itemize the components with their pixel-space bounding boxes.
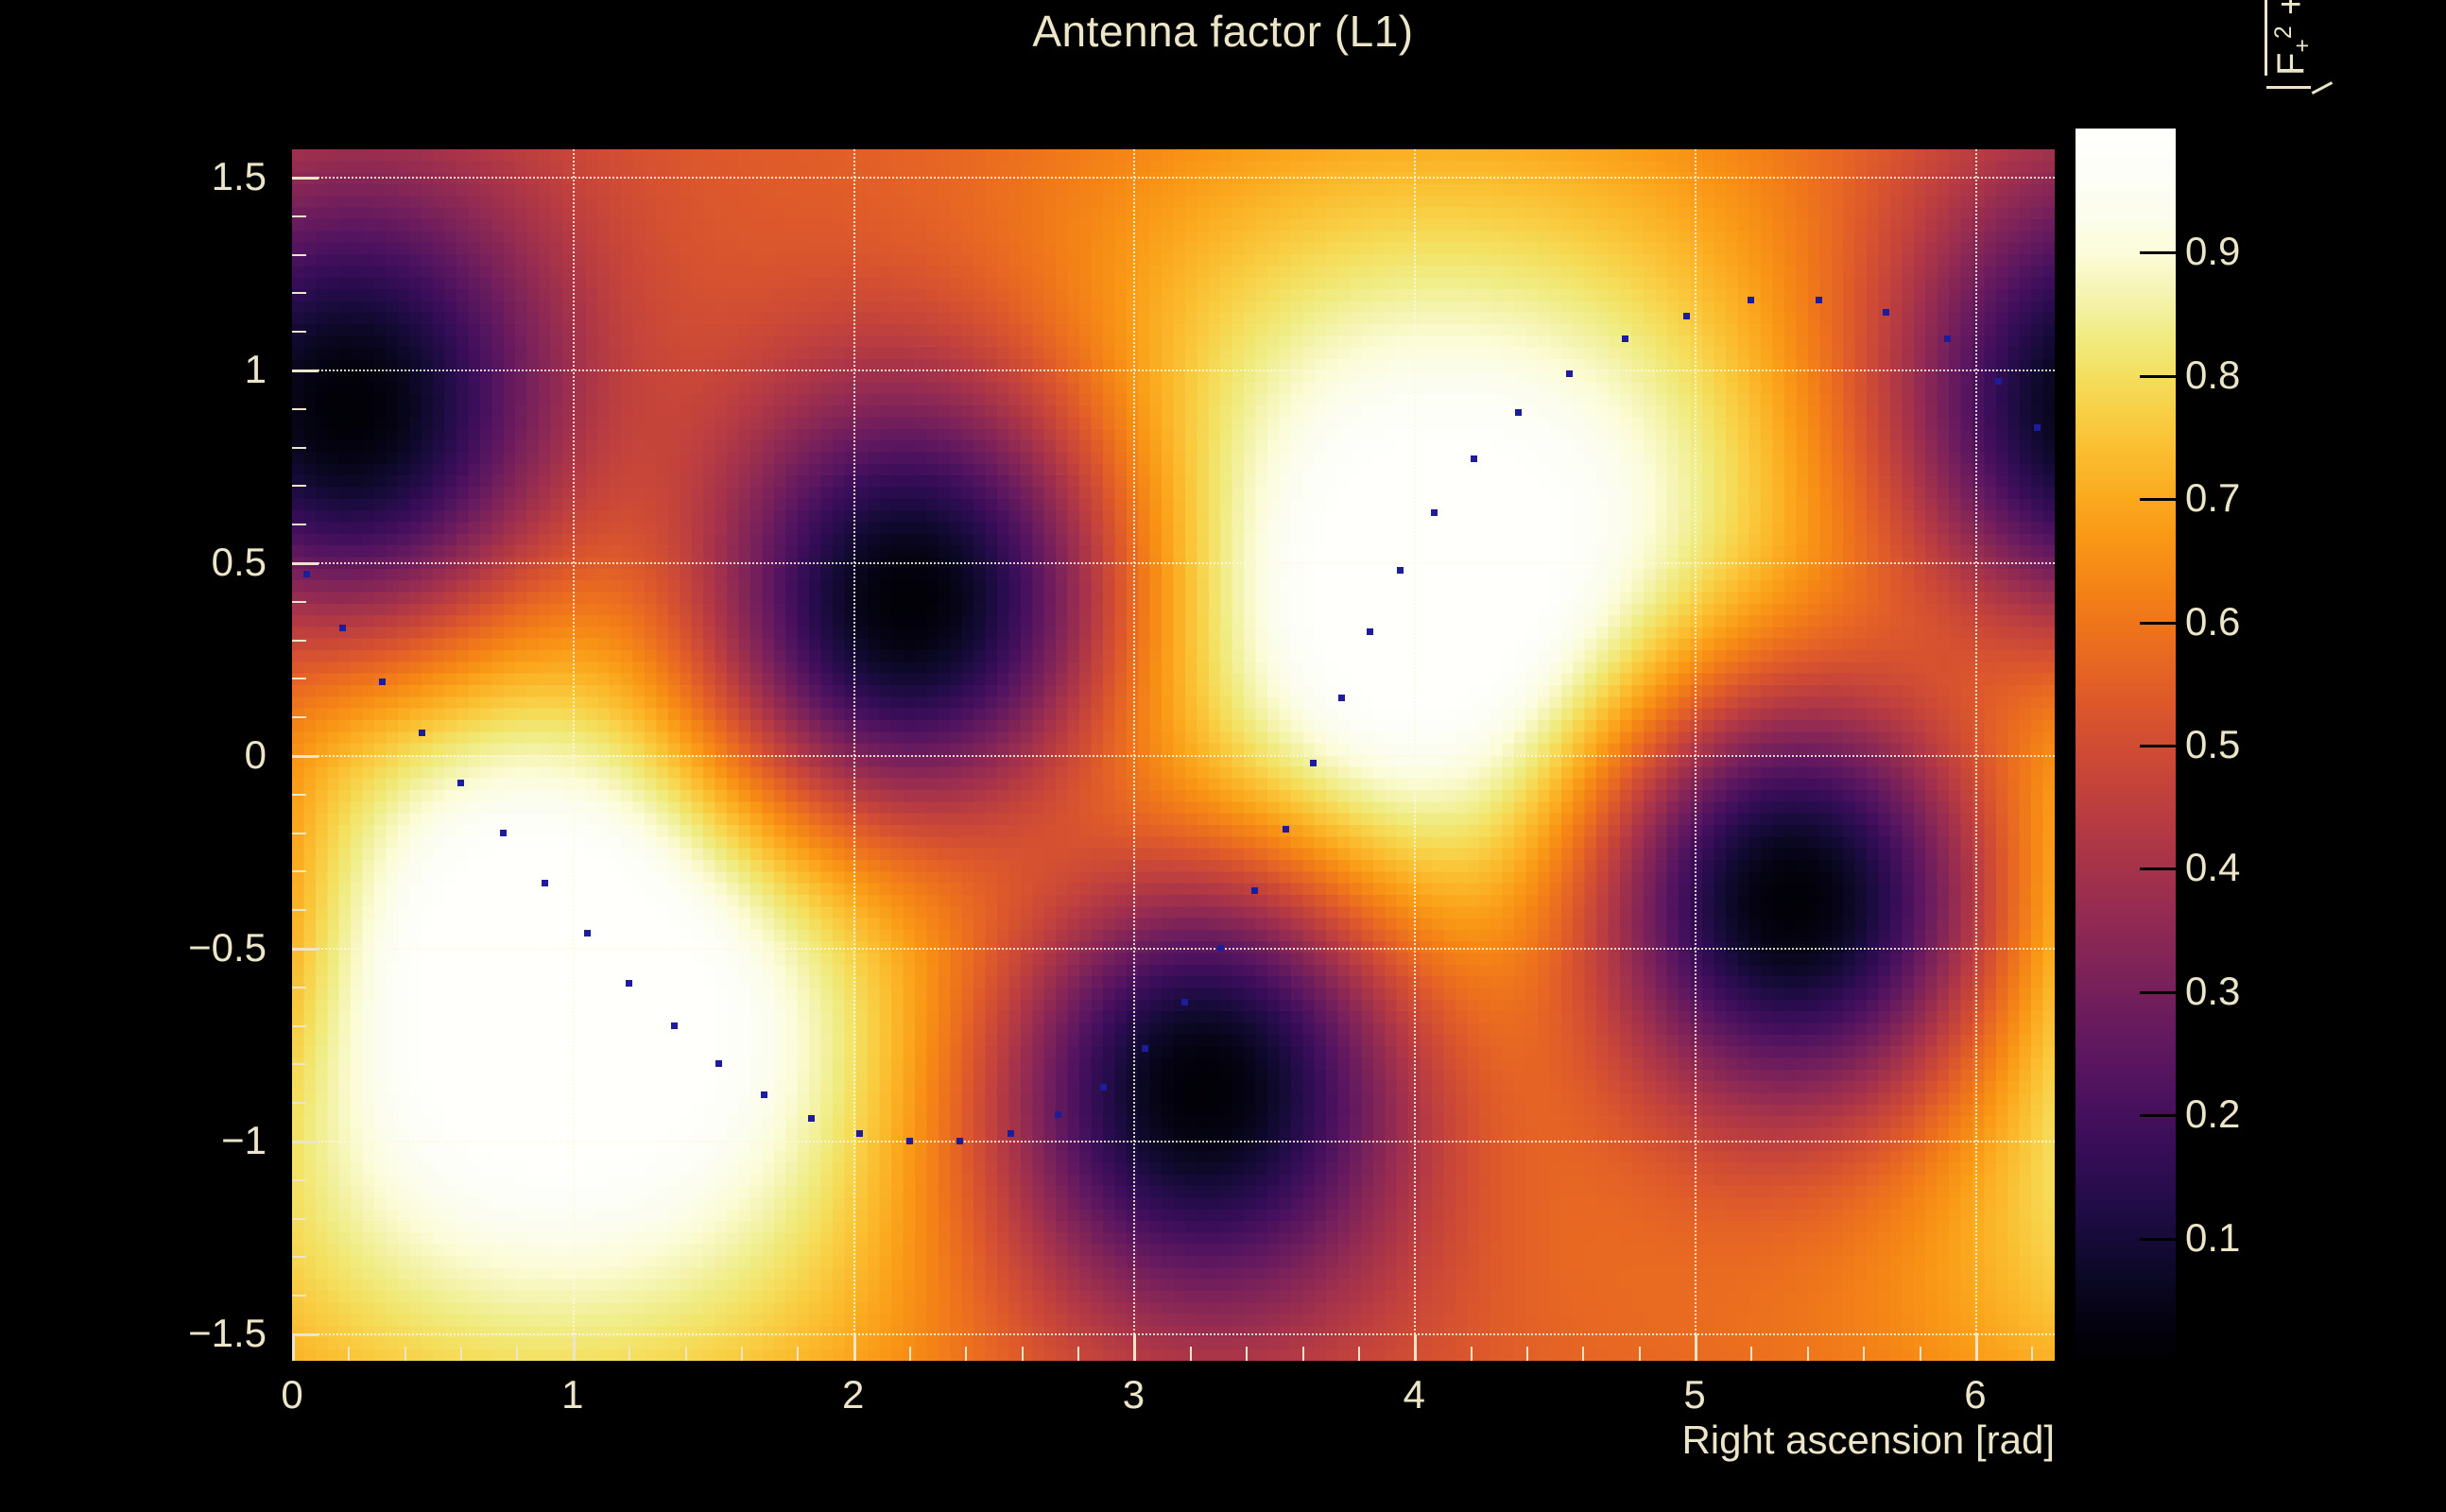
x-axis-minor-tick xyxy=(853,1347,855,1361)
y-axis-minor-tick xyxy=(292,408,306,410)
colorbar-tick xyxy=(2140,251,2176,254)
colorbar-tick xyxy=(2140,991,2176,994)
curve-point xyxy=(1338,695,1345,701)
curve-point xyxy=(1251,887,1258,894)
curve-point xyxy=(761,1091,767,1098)
curve-point xyxy=(379,679,386,685)
x-axis-minor-tick xyxy=(1246,1347,1248,1361)
y-axis-minor-tick xyxy=(292,987,306,988)
x-axis-minor-tick xyxy=(405,1347,406,1361)
curve-point xyxy=(956,1138,963,1144)
y-axis-minor-tick xyxy=(292,833,306,834)
x-axis-title: Right ascension [rad] xyxy=(945,1417,2055,1463)
y-axis-minor-tick xyxy=(292,1256,306,1258)
x-axis-minor-tick xyxy=(797,1347,799,1361)
curve-point xyxy=(1883,309,1889,316)
curve-point xyxy=(1995,378,2002,385)
x-axis-minor-tick xyxy=(1639,1347,1641,1361)
curve-point xyxy=(1008,1130,1014,1137)
x-axis-minor-tick xyxy=(1022,1347,1024,1361)
curve-point xyxy=(1622,335,1628,342)
z-label-plus-sign: + xyxy=(2270,0,2312,26)
heatmap-plot-area[interactable] xyxy=(292,149,2055,1361)
x-axis-minor-tick xyxy=(1302,1347,1304,1361)
curve-point xyxy=(856,1130,863,1137)
curve-point xyxy=(715,1060,722,1067)
x-axis-minor-tick xyxy=(1582,1347,1584,1361)
x-axis-minor-tick xyxy=(348,1347,350,1361)
x-axis-tick-label: 2 xyxy=(842,1372,864,1417)
colorbar[interactable] xyxy=(2076,129,2176,1361)
y-axis-minor-tick xyxy=(292,1141,306,1143)
y-axis-minor-tick xyxy=(292,562,306,564)
x-axis-tick-label: 0 xyxy=(281,1372,302,1417)
y-axis-minor-tick xyxy=(292,716,306,718)
y-axis-minor-tick xyxy=(292,524,306,525)
y-axis-minor-tick xyxy=(292,292,306,294)
y-axis-tick-label: 0.5 xyxy=(212,540,267,585)
x-axis-tick-label: 6 xyxy=(1964,1372,1986,1417)
y-axis-minor-tick xyxy=(292,1333,306,1335)
colorbar-tick-label: 0.4 xyxy=(2185,845,2240,890)
curve-point xyxy=(457,780,464,786)
y-axis-minor-tick xyxy=(292,755,306,757)
curve-point xyxy=(1748,297,1754,303)
x-axis-minor-tick xyxy=(1414,1347,1416,1361)
curve-point xyxy=(542,880,548,886)
curve-point xyxy=(1142,1045,1148,1052)
curve-point xyxy=(1944,335,1951,342)
colorbar-tick-label: 0.7 xyxy=(2185,475,2240,521)
curve-point xyxy=(671,1022,678,1029)
y-axis-minor-tick xyxy=(292,1179,306,1181)
colorbar-tick xyxy=(2140,745,2176,747)
colorbar-tick-labels: 0.90.80.70.60.50.40.30.20.1 xyxy=(2185,129,2355,1361)
colorbar-tick-label: 0.9 xyxy=(2185,229,2240,274)
curve-point xyxy=(303,571,310,577)
y-axis-minor-tick xyxy=(292,1063,306,1065)
x-axis-minor-tick xyxy=(1077,1347,1079,1361)
x-axis-minor-tick xyxy=(1358,1347,1360,1361)
curve-point xyxy=(339,625,346,631)
x-axis-minor-tick xyxy=(573,1347,575,1361)
curve-point xyxy=(1431,509,1438,516)
y-axis-minor-tick xyxy=(292,678,306,679)
y-axis-minor-tick xyxy=(292,254,306,256)
y-axis-minor-tick xyxy=(292,601,306,603)
x-axis-minor-tick xyxy=(1133,1347,1135,1361)
y-axis-minor-tick xyxy=(292,369,306,371)
curve-point xyxy=(626,980,632,987)
curve-point xyxy=(1055,1111,1061,1118)
y-axis-minor-tick xyxy=(292,1102,306,1104)
plot-canvas: Antenna factor (L1) 1.510.50−0.5−1−1.5 0… xyxy=(0,0,2446,1512)
x-axis-minor-tick xyxy=(909,1347,911,1361)
y-axis-minor-tick xyxy=(292,1218,306,1220)
y-axis-tick-label: −1 xyxy=(221,1118,267,1163)
x-axis-minor-tick xyxy=(2031,1347,2033,1361)
y-axis-minor-tick xyxy=(292,948,306,950)
y-axis-tick-label: 1.5 xyxy=(212,154,267,199)
curve-point xyxy=(1283,826,1289,833)
curve-point xyxy=(500,830,507,836)
curve-point xyxy=(1100,1084,1107,1091)
colorbar-tick-label: 0.1 xyxy=(2185,1215,2240,1261)
colorbar-tick-label: 0.2 xyxy=(2185,1091,2240,1137)
x-axis-minor-tick xyxy=(685,1347,687,1361)
z-label-f-plus: F+2 xyxy=(2270,26,2312,76)
y-axis-minor-tick xyxy=(292,177,306,179)
page-title: Antenna factor (L1) xyxy=(0,6,2446,57)
x-axis-minor-tick xyxy=(1695,1347,1697,1361)
curve-point xyxy=(1310,760,1317,766)
y-axis-minor-tick xyxy=(292,215,306,217)
heatmap-image xyxy=(292,149,2055,1361)
curve-point xyxy=(906,1138,913,1144)
colorbar-tick-label: 0.5 xyxy=(2185,722,2240,767)
colorbar-tick-label: 0.3 xyxy=(2185,969,2240,1014)
x-axis-tick-label: 3 xyxy=(1123,1372,1145,1417)
y-axis-minor-tick xyxy=(292,794,306,796)
y-axis-minor-tick xyxy=(292,640,306,642)
colorbar-tick xyxy=(2140,622,2176,625)
x-axis-minor-tick xyxy=(1190,1347,1192,1361)
x-axis-minor-tick xyxy=(965,1347,967,1361)
curve-point xyxy=(584,930,591,936)
y-axis-minor-tick xyxy=(292,1025,306,1027)
curve-point xyxy=(1515,409,1522,416)
x-axis-minor-tick xyxy=(1920,1347,1921,1361)
curve-point xyxy=(1566,370,1573,377)
y-axis-tick-label: −1.5 xyxy=(188,1311,267,1356)
colorbar-tick xyxy=(2140,498,2176,501)
y-axis-tick-labels: 1.510.50−0.5−1−1.5 xyxy=(57,149,267,1361)
x-axis-minor-tick xyxy=(1807,1347,1809,1361)
curve-point xyxy=(2034,424,2041,431)
curve-point xyxy=(1217,945,1224,952)
z-axis-title: F+2 + Fx2 xyxy=(2268,0,2317,94)
x-axis-minor-tick xyxy=(1526,1347,1528,1361)
curve-point xyxy=(1397,567,1404,574)
y-axis-minor-tick xyxy=(292,870,306,872)
curve-point xyxy=(1181,999,1188,1005)
x-axis-minor-tick xyxy=(516,1347,518,1361)
x-axis-minor-tick xyxy=(1471,1347,1473,1361)
y-axis-minor-tick xyxy=(292,1295,306,1297)
x-axis-minor-tick xyxy=(629,1347,630,1361)
y-axis-minor-tick xyxy=(292,331,306,333)
y-axis-tick-label: −0.5 xyxy=(188,925,267,971)
colorbar-tick xyxy=(2140,375,2176,378)
x-axis-minor-tick xyxy=(460,1347,462,1361)
x-axis-minor-tick xyxy=(1975,1347,1977,1361)
x-axis-tick-label: 4 xyxy=(1404,1372,1425,1417)
colorbar-tick xyxy=(2140,1114,2176,1117)
x-axis-minor-tick xyxy=(741,1347,743,1361)
colorbar-tick xyxy=(2140,868,2176,870)
curve-point xyxy=(808,1115,815,1122)
curve-point xyxy=(419,730,425,736)
x-axis-minor-tick xyxy=(1750,1347,1752,1361)
x-axis-tick-label: 1 xyxy=(561,1372,583,1417)
x-axis-minor-tick xyxy=(1863,1347,1865,1361)
colorbar-tick-label: 0.6 xyxy=(2185,599,2240,644)
x-axis-tick-label: 5 xyxy=(1683,1372,1705,1417)
y-axis-minor-tick xyxy=(292,909,306,911)
x-axis-minor-tick xyxy=(292,1347,294,1361)
curve-point xyxy=(1683,313,1690,319)
y-axis-tick-label: 1 xyxy=(245,347,267,392)
curve-point xyxy=(1367,628,1373,635)
y-axis-tick-label: 0 xyxy=(245,732,267,778)
y-axis-minor-tick xyxy=(292,447,306,449)
curve-point xyxy=(1816,297,1822,303)
y-axis-minor-tick xyxy=(292,485,306,487)
colorbar-tick-label: 0.8 xyxy=(2185,352,2240,398)
colorbar-tick xyxy=(2140,1238,2176,1241)
curve-point xyxy=(1471,455,1477,462)
